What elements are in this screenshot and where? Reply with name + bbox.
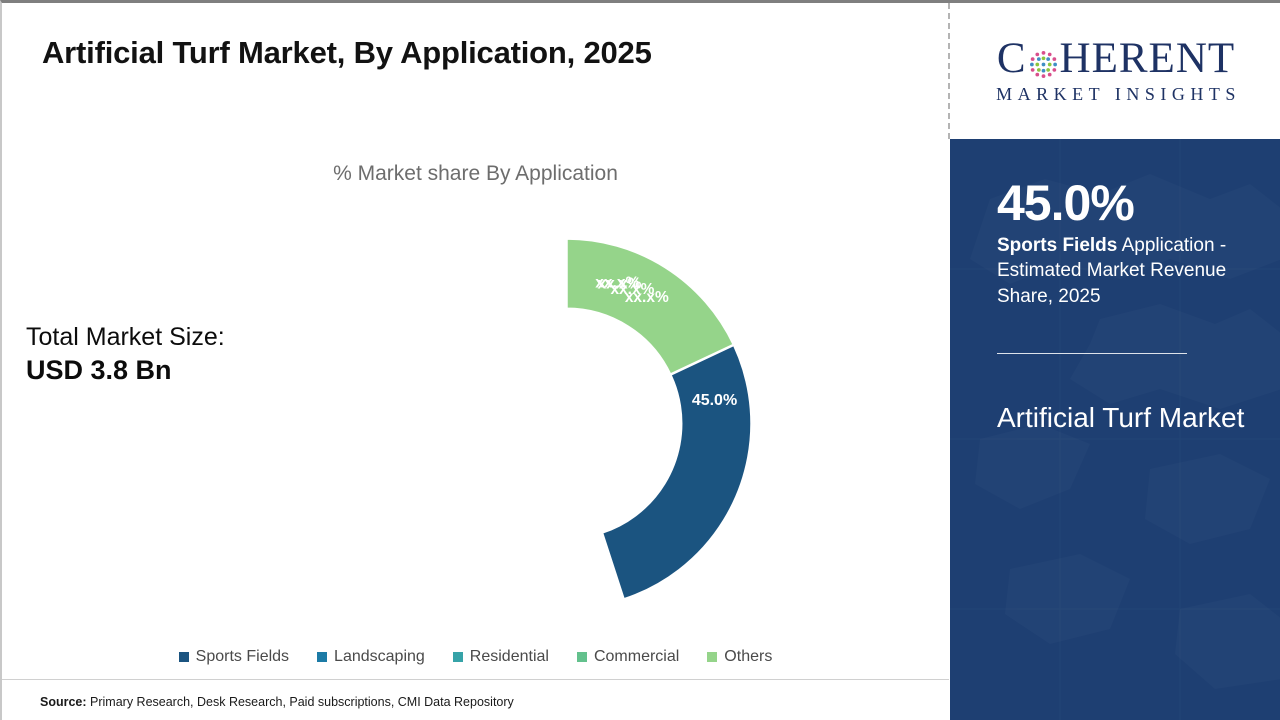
- infographic-page: Artificial Turf Market, By Application, …: [0, 0, 1280, 720]
- donut-slice[interactable]: [567, 239, 734, 375]
- panel-divider: [997, 353, 1187, 354]
- legend-item[interactable]: Commercial: [577, 648, 679, 666]
- legend-swatch-icon: [179, 652, 189, 662]
- donut-slice-label: xx.x%: [625, 289, 669, 306]
- right-panel: C: [950, 3, 1280, 720]
- logo-wordmark: C: [997, 37, 1235, 80]
- legend-label: Landscaping: [334, 648, 425, 666]
- legend-item[interactable]: Landscaping: [317, 648, 425, 666]
- legend-label: Others: [724, 648, 772, 666]
- legend-swatch-icon: [317, 652, 327, 662]
- legend-item[interactable]: Sports Fields: [179, 648, 289, 666]
- chart-subtitle: % Market share By Application: [2, 162, 949, 186]
- legend-swatch-icon: [577, 652, 587, 662]
- source-label: Source:: [40, 695, 87, 709]
- stat-value: 45.0%: [997, 177, 1245, 229]
- total-market-size-label: Total Market Size:: [26, 323, 225, 353]
- globe-dots-icon: [1028, 45, 1059, 76]
- source-text: Primary Research, Desk Research, Paid su…: [87, 695, 514, 709]
- total-market-size-value: USD 3.8 Bn: [26, 355, 225, 387]
- stat-panel: 45.0% Sports Fields Application - Estima…: [950, 139, 1280, 720]
- panel-market-name: Artificial Turf Market: [997, 398, 1245, 439]
- stat-panel-content: 45.0% Sports Fields Application - Estima…: [997, 177, 1245, 438]
- source-line: Source: Primary Research, Desk Research,…: [40, 695, 514, 709]
- stat-description: Sports Fields Application - Estimated Ma…: [997, 233, 1245, 309]
- donut-chart: 45.0%xx.x%xx.x%xx.x%xx.x%: [364, 221, 769, 626]
- footer-divider: [2, 679, 949, 680]
- legend-item[interactable]: Residential: [453, 648, 549, 666]
- stat-description-highlight: Sports Fields: [997, 235, 1117, 256]
- company-logo: C: [950, 3, 1280, 139]
- legend-swatch-icon: [707, 652, 717, 662]
- total-market-size-block: Total Market Size: USD 3.8 Bn: [26, 323, 225, 386]
- donut-chart-svg: 45.0%xx.x%xx.x%xx.x%xx.x%: [364, 221, 769, 626]
- logo-letters-herent: HERENT: [1060, 37, 1236, 80]
- page-title: Artificial Turf Market, By Application, …: [42, 35, 652, 71]
- legend-label: Sports Fields: [196, 648, 289, 666]
- legend-label: Commercial: [594, 648, 679, 666]
- legend-label: Residential: [470, 648, 549, 666]
- chart-legend: Sports FieldsLandscapingResidentialComme…: [2, 648, 949, 666]
- donut-slice-label: 45.0%: [692, 392, 737, 409]
- logo-tagline: MARKET INSIGHTS: [991, 84, 1241, 105]
- main-content-area: Artificial Turf Market, By Application, …: [2, 3, 949, 720]
- legend-item[interactable]: Others: [707, 648, 772, 666]
- logo-letter-c: C: [997, 37, 1027, 80]
- legend-swatch-icon: [453, 652, 463, 662]
